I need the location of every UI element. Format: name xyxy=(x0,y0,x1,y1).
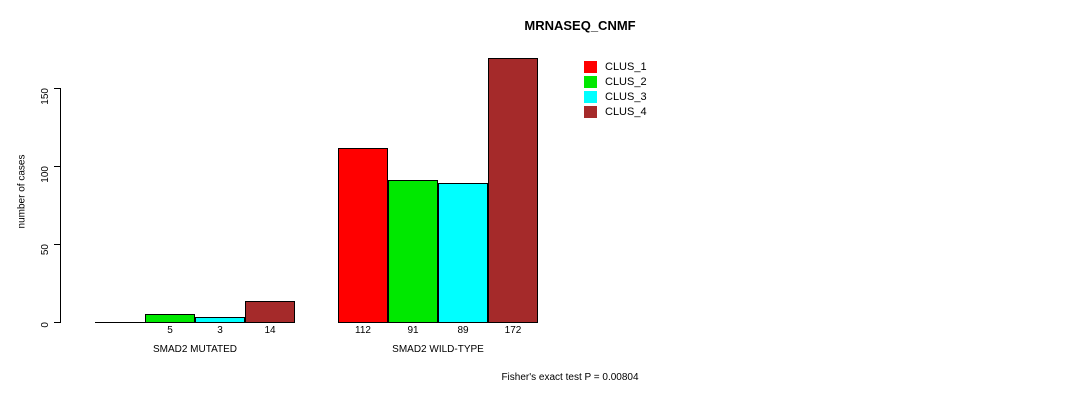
bar-mutated-clus2[interactable] xyxy=(145,314,195,323)
statistical-test-annotation: Fisher's exact test P = 0.00804 xyxy=(400,372,740,383)
chart-title-wrap: MRNASEQ_CNMF xyxy=(470,18,690,33)
chart-legend: CLUS_1 CLUS_2 CLUS_3 CLUS_4 xyxy=(584,60,704,120)
y-tick-mark-50 xyxy=(54,244,60,245)
legend-label-clus4: CLUS_4 xyxy=(605,105,647,119)
legend-swatch-clus3-icon xyxy=(584,91,597,103)
y-tick-mark-100 xyxy=(54,166,60,167)
y-axis-line xyxy=(60,88,61,323)
legend-item-clus2[interactable]: CLUS_2 xyxy=(584,75,704,90)
y-axis-title: number of cases xyxy=(17,122,28,262)
group-label-wildtype: SMAD2 WILD-TYPE xyxy=(338,344,538,355)
bar-wildtype-clus2[interactable] xyxy=(388,180,438,323)
legend-label-clus2: CLUS_2 xyxy=(605,75,647,89)
bar-value-mutated-clus3: 3 xyxy=(195,326,245,336)
y-tick-label-100: 100 xyxy=(41,166,51,206)
bar-value-wildtype-clus4: 172 xyxy=(488,326,538,336)
y-tick-mark-150 xyxy=(54,88,60,89)
bar-wildtype-clus1[interactable] xyxy=(338,148,388,323)
y-tick-label-50: 50 xyxy=(41,244,51,284)
y-tick-label-0: 0 xyxy=(41,322,51,362)
chart-title: MRNASEQ_CNMF xyxy=(470,18,690,33)
legend-swatch-clus2-icon xyxy=(584,76,597,88)
bar-value-mutated-clus2: 5 xyxy=(145,326,195,336)
legend-item-clus3[interactable]: CLUS_3 xyxy=(584,90,704,105)
legend-item-clus4[interactable]: CLUS_4 xyxy=(584,105,704,120)
bar-value-wildtype-clus3: 89 xyxy=(438,326,488,336)
bar-mutated-clus4[interactable] xyxy=(245,301,295,323)
legend-item-clus1[interactable]: CLUS_1 xyxy=(584,60,704,75)
group-label-mutated: SMAD2 MUTATED xyxy=(95,344,295,355)
legend-swatch-clus4-icon xyxy=(584,106,597,118)
y-tick-mark-0 xyxy=(54,322,60,323)
y-tick-label-150: 150 xyxy=(41,88,51,128)
bar-value-wildtype-clus1: 112 xyxy=(338,326,388,336)
chart-canvas: MRNASEQ_CNMF 150 100 50 0 number of case… xyxy=(0,0,1090,400)
legend-label-clus1: CLUS_1 xyxy=(605,60,647,74)
bar-wildtype-clus4[interactable] xyxy=(488,58,538,323)
legend-label-clus3: CLUS_3 xyxy=(605,90,647,104)
bar-wildtype-clus3[interactable] xyxy=(438,183,488,323)
bar-mutated-clus3[interactable] xyxy=(195,317,245,323)
bar-value-wildtype-clus2: 91 xyxy=(388,326,438,336)
bar-value-mutated-clus4: 14 xyxy=(245,326,295,336)
legend-swatch-clus1-icon xyxy=(584,61,597,73)
